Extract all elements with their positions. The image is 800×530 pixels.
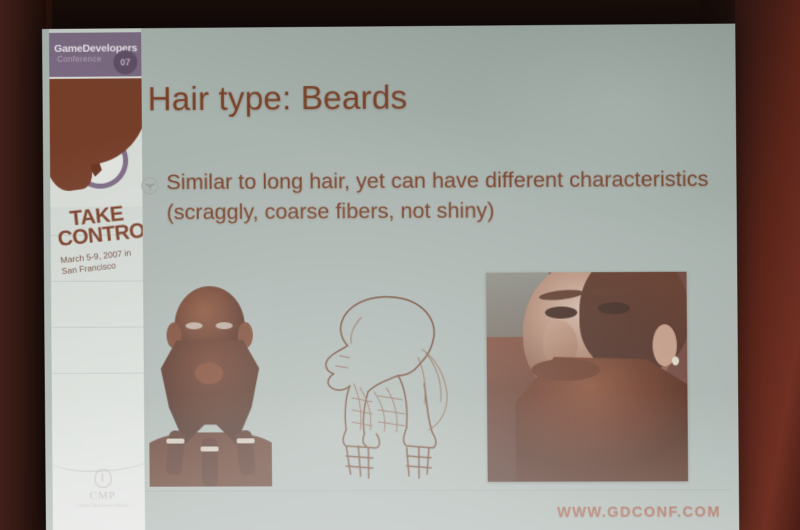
gdc-year-badge: 07 — [113, 50, 137, 74]
gdc-radial-bullet-icon — [141, 177, 158, 194]
footer-url: WWW.GDCONF.COM — [557, 504, 721, 521]
cmp-mark-icon — [94, 469, 111, 488]
cmp-publisher-logo: CMP United Business Media — [74, 469, 130, 508]
room-right-wall — [735, 0, 800, 530]
footer-divider — [146, 489, 731, 492]
gdc-logo-header: GameDevelopers Conference 07 — [49, 32, 141, 79]
screenshot-stage: GameDevelopers Conference 07 — [0, 0, 800, 530]
cmp-name: CMP — [75, 490, 131, 502]
page-title: Hair type: Beards — [148, 76, 713, 118]
projected-slide: GameDevelopers Conference 07 — [42, 24, 739, 530]
earring-icon — [672, 356, 679, 365]
gdc-brand-line2: Conference — [57, 55, 101, 64]
gdc-banner-sidebar: GameDevelopers Conference 07 — [49, 28, 145, 530]
hand-over-globe-graphic — [49, 76, 142, 207]
bearded-man-photo-image — [486, 272, 688, 482]
bullet-item: Similar to long hair, yet can have diffe… — [141, 165, 737, 228]
room-left-edge — [0, 0, 46, 530]
banner-swoosh-divider — [49, 437, 145, 472]
rendered-bearded-head-image — [148, 282, 272, 487]
beard-line-art-sketch-image — [301, 287, 454, 484]
figure-row — [140, 271, 739, 489]
cmp-subtitle: United Business Media — [75, 503, 131, 508]
gdc-tagline: TAKE CONTROL — [55, 202, 145, 249]
bullet-text: Similar to long hair, yet can have diffe… — [166, 165, 737, 228]
